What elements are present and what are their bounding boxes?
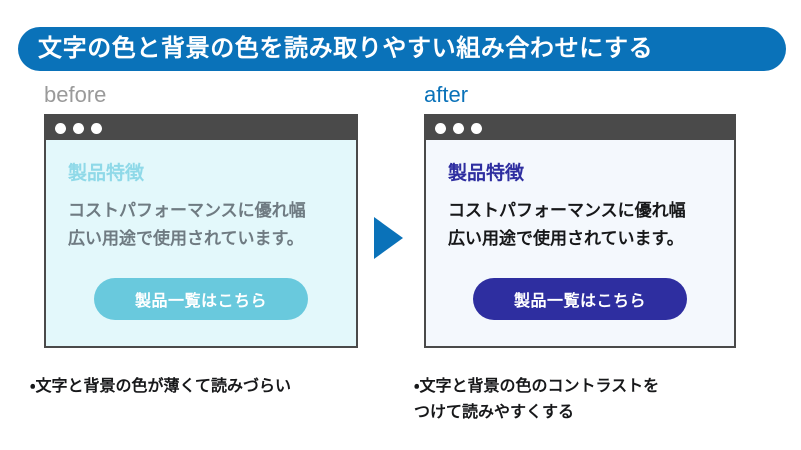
before-caption: ・文字と背景の色が薄くて読みづらい: [30, 374, 380, 400]
before-window-titlebar: [46, 116, 356, 140]
after-label: after: [424, 82, 736, 108]
after-content-heading: 製品特徴: [448, 164, 712, 183]
after-product-list-button[interactable]: 製品一覧はこちら: [473, 278, 687, 320]
comparison-column-after: after 製品特徴 コストパフォーマンスに優れ幅 広い用途で使用されています。…: [424, 82, 736, 348]
comparison-column-before: before 製品特徴 コストパフォーマンスに優れ幅 広い用途で使用されています…: [44, 82, 358, 348]
after-content-paragraph: コストパフォーマンスに優れ幅 広い用途で使用されています。: [448, 197, 712, 253]
window-dot-icon: [453, 123, 464, 134]
after-cta-wrapper: 製品一覧はこちら: [448, 278, 712, 320]
slide-root: { "banner": { "title": "文字の色と背景の色を読み取りやす…: [0, 0, 801, 450]
window-dot-icon: [91, 123, 102, 134]
before-label: before: [44, 82, 358, 108]
slide-title-banner: 文字の色と背景の色を読み取りやすい組み合わせにする: [18, 27, 786, 71]
after-browser-mock: 製品特徴 コストパフォーマンスに優れ幅 広い用途で使用されています。 製品一覧は…: [424, 114, 736, 348]
after-caption: ・文字と背景の色のコントラストを つけて読みやすくする: [414, 374, 774, 426]
before-window-content: 製品特徴 コストパフォーマンスに優れ幅 広い用途で使用されています。 製品一覧は…: [46, 140, 356, 346]
before-product-list-button[interactable]: 製品一覧はこちら: [94, 278, 308, 320]
after-window-titlebar: [426, 116, 734, 140]
before-cta-wrapper: 製品一覧はこちら: [68, 278, 334, 320]
window-dot-icon: [435, 123, 446, 134]
window-dot-icon: [55, 123, 66, 134]
right-triangle-arrow-icon: [374, 217, 403, 259]
before-content-heading: 製品特徴: [68, 164, 334, 183]
window-dot-icon: [73, 123, 84, 134]
before-browser-mock: 製品特徴 コストパフォーマンスに優れ幅 広い用途で使用されています。 製品一覧は…: [44, 114, 358, 348]
window-dot-icon: [471, 123, 482, 134]
slide-title-text: 文字の色と背景の色を読み取りやすい組み合わせにする: [38, 37, 653, 61]
after-window-content: 製品特徴 コストパフォーマンスに優れ幅 広い用途で使用されています。 製品一覧は…: [426, 140, 734, 346]
before-content-paragraph: コストパフォーマンスに優れ幅 広い用途で使用されています。: [68, 197, 334, 253]
